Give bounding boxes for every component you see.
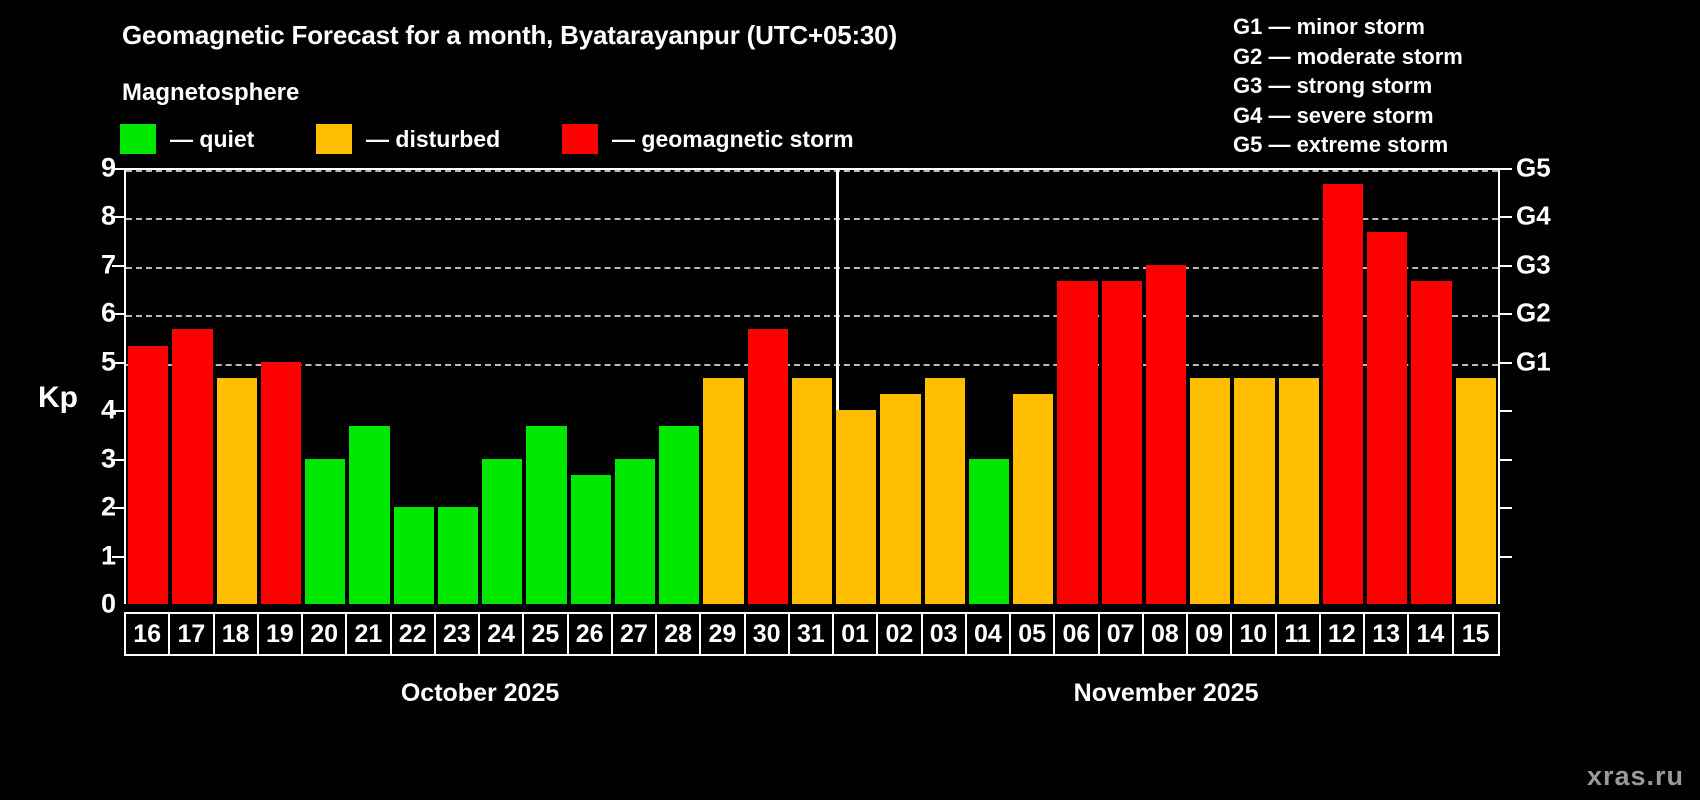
y-tick-mark-3 (112, 459, 124, 461)
day-label-08[interactable]: 08 (1144, 614, 1188, 654)
bar-day-24[interactable] (482, 459, 522, 604)
bar-cell[interactable] (701, 170, 745, 604)
g-tick-label-G1: G1 (1516, 346, 1551, 377)
bar-cell[interactable] (790, 170, 834, 604)
g-tick-mark-5 (1500, 362, 1512, 364)
y-axis-label: Kp (38, 381, 78, 415)
y-tick-label-5: 5 (76, 346, 116, 377)
y-tick-label-0: 0 (76, 589, 116, 620)
bar-day-06[interactable] (1057, 281, 1097, 604)
bar-day-21[interactable] (349, 426, 389, 604)
bar-day-14[interactable] (1411, 281, 1451, 604)
bar-day-05[interactable] (1013, 394, 1053, 604)
y-tick-mark-7 (112, 265, 124, 267)
bar-day-13[interactable] (1367, 232, 1407, 604)
y-tick-label-3: 3 (76, 443, 116, 474)
storm-scale-key: G1 — minor stormG2 — moderate stormG3 — … (1233, 12, 1463, 160)
bar-cell[interactable] (524, 170, 568, 604)
day-label-31[interactable]: 31 (790, 614, 834, 654)
plot-area (124, 168, 1500, 604)
watermark: xras.ru (1587, 761, 1684, 792)
bar-cell[interactable] (1277, 170, 1321, 604)
bar-cell[interactable] (1144, 170, 1188, 604)
bar-day-20[interactable] (305, 459, 345, 604)
legend-swatch-storm-icon (562, 124, 598, 154)
storm-scale-line-1: G1 — minor storm (1233, 12, 1463, 42)
day-label-18[interactable]: 18 (215, 614, 259, 654)
bar-cell[interactable] (878, 170, 922, 604)
bar-cell[interactable] (170, 170, 214, 604)
legend-item-disturbed: — disturbed (316, 124, 500, 154)
day-label-23[interactable]: 23 (436, 614, 480, 654)
g-tick-mark-9 (1500, 168, 1512, 170)
day-label-14[interactable]: 14 (1409, 614, 1453, 654)
bar-cell[interactable] (569, 170, 613, 604)
day-label-19[interactable]: 19 (259, 614, 303, 654)
bar-day-26[interactable] (571, 475, 611, 604)
geomagnetic-forecast-chart: Geomagnetic Forecast for a month, Byatar… (0, 0, 1700, 800)
storm-scale-line-5: G5 — extreme storm (1233, 130, 1463, 160)
y-tick-label-7: 7 (76, 249, 116, 280)
bar-day-27[interactable] (615, 459, 655, 604)
page-title: Geomagnetic Forecast for a month, Byatar… (122, 20, 897, 51)
bar-day-17[interactable] (172, 329, 212, 604)
legend-label-storm: — geomagnetic storm (612, 126, 854, 153)
legend-label-quiet: — quiet (170, 126, 254, 153)
g-tick-mark-1 (1500, 556, 1512, 558)
bar-day-07[interactable] (1102, 281, 1142, 604)
bar-cell[interactable] (1365, 170, 1409, 604)
bar-day-29[interactable] (703, 378, 743, 604)
day-label-10[interactable]: 10 (1232, 614, 1276, 654)
bar-cell[interactable] (834, 170, 878, 604)
bar-cell[interactable] (1454, 170, 1498, 604)
y-tick-mark-9 (112, 168, 124, 170)
g-tick-mark-6 (1500, 313, 1512, 315)
day-label-07[interactable]: 07 (1100, 614, 1144, 654)
day-label-28[interactable]: 28 (657, 614, 701, 654)
day-label-15[interactable]: 15 (1454, 614, 1498, 654)
day-label-25[interactable]: 25 (524, 614, 568, 654)
bar-day-16[interactable] (128, 346, 168, 604)
month-caption-1: October 2025 (401, 679, 559, 708)
bar-cell[interactable] (126, 170, 170, 604)
x-axis-day-labels: 1617181920212223242526272829303101020304… (124, 612, 1500, 656)
storm-scale-line-4: G4 — severe storm (1233, 101, 1463, 131)
day-label-05[interactable]: 05 (1011, 614, 1055, 654)
bar-cell[interactable] (657, 170, 701, 604)
storm-scale-line-2: G2 — moderate storm (1233, 42, 1463, 72)
g-tick-label-G3: G3 (1516, 249, 1551, 280)
bar-day-30[interactable] (748, 329, 788, 604)
day-label-16[interactable]: 16 (126, 614, 170, 654)
day-label-04[interactable]: 04 (967, 614, 1011, 654)
bar-day-23[interactable] (438, 507, 478, 604)
day-label-06[interactable]: 06 (1055, 614, 1099, 654)
day-label-30[interactable]: 30 (746, 614, 790, 654)
day-label-02[interactable]: 02 (878, 614, 922, 654)
bar-day-04[interactable] (969, 459, 1009, 604)
legend-swatch-disturbed-icon (316, 124, 352, 154)
bar-day-28[interactable] (659, 426, 699, 604)
y-tick-mark-2 (112, 507, 124, 509)
y-tick-mark-1 (112, 556, 124, 558)
day-label-20[interactable]: 20 (303, 614, 347, 654)
bar-day-01[interactable] (836, 410, 876, 604)
bar-day-03[interactable] (925, 378, 965, 604)
legend-item-quiet: — quiet (120, 124, 254, 154)
day-label-24[interactable]: 24 (480, 614, 524, 654)
bar-day-08[interactable] (1146, 265, 1186, 604)
legend-label-disturbed: — disturbed (366, 126, 500, 153)
g-tick-label-G2: G2 (1516, 298, 1551, 329)
day-label-13[interactable]: 13 (1365, 614, 1409, 654)
day-label-29[interactable]: 29 (701, 614, 745, 654)
y-tick-label-6: 6 (76, 298, 116, 329)
bar-day-12[interactable] (1323, 184, 1363, 604)
bar-day-15[interactable] (1456, 378, 1496, 604)
storm-scale-line-3: G3 — strong storm (1233, 71, 1463, 101)
bar-cell[interactable] (436, 170, 480, 604)
g-tick-mark-7 (1500, 265, 1512, 267)
day-label-22[interactable]: 22 (392, 614, 436, 654)
bar-day-31[interactable] (792, 378, 832, 604)
y-tick-label-1: 1 (76, 540, 116, 571)
bar-cell[interactable] (1321, 170, 1365, 604)
bar-series (126, 170, 1498, 604)
day-label-17[interactable]: 17 (170, 614, 214, 654)
g-tick-mark-4 (1500, 410, 1512, 412)
legend-swatch-quiet-icon (120, 124, 156, 154)
bar-day-22[interactable] (394, 507, 434, 604)
bar-day-19[interactable] (261, 362, 301, 604)
day-label-01[interactable]: 01 (834, 614, 878, 654)
bar-cell[interactable] (1188, 170, 1232, 604)
legend-item-storm: — geomagnetic storm (562, 124, 854, 154)
g-tick-mark-8 (1500, 216, 1512, 218)
y-tick-mark-6 (112, 313, 124, 315)
g-tick-mark-2 (1500, 507, 1512, 509)
y-tick-mark-5 (112, 362, 124, 364)
bar-cell[interactable] (1409, 170, 1453, 604)
y-tick-mark-4 (112, 410, 124, 412)
bar-cell[interactable] (215, 170, 259, 604)
bar-cell[interactable] (967, 170, 1011, 604)
bar-day-25[interactable] (526, 426, 566, 604)
bar-cell[interactable] (259, 170, 303, 604)
g-tick-label-G4: G4 (1516, 201, 1551, 232)
bar-cell[interactable] (746, 170, 790, 604)
bar-cell[interactable] (1055, 170, 1099, 604)
bar-day-11[interactable] (1279, 378, 1319, 604)
bar-cell[interactable] (480, 170, 524, 604)
bar-day-09[interactable] (1190, 378, 1230, 604)
y-tick-label-2: 2 (76, 492, 116, 523)
month-caption-2: November 2025 (1074, 679, 1259, 708)
bar-cell[interactable] (303, 170, 347, 604)
bar-cell[interactable] (923, 170, 967, 604)
g-tick-mark-3 (1500, 459, 1512, 461)
y-tick-label-9: 9 (76, 153, 116, 184)
day-label-11[interactable]: 11 (1277, 614, 1321, 654)
day-label-12[interactable]: 12 (1321, 614, 1365, 654)
y-tick-label-8: 8 (76, 201, 116, 232)
day-label-27[interactable]: 27 (613, 614, 657, 654)
bar-day-10[interactable] (1234, 378, 1274, 604)
bar-cell[interactable] (1100, 170, 1144, 604)
magnetosphere-label: Magnetosphere (122, 79, 299, 107)
bar-day-02[interactable] (880, 394, 920, 604)
day-label-09[interactable]: 09 (1188, 614, 1232, 654)
y-tick-label-4: 4 (76, 395, 116, 426)
bar-cell[interactable] (1011, 170, 1055, 604)
bar-cell[interactable] (347, 170, 391, 604)
y-tick-mark-8 (112, 216, 124, 218)
bar-cell[interactable] (613, 170, 657, 604)
bar-cell[interactable] (392, 170, 436, 604)
bar-cell[interactable] (1232, 170, 1276, 604)
bar-day-18[interactable] (217, 378, 257, 604)
g-tick-label-G5: G5 (1516, 153, 1551, 184)
day-label-03[interactable]: 03 (923, 614, 967, 654)
day-label-21[interactable]: 21 (347, 614, 391, 654)
day-label-26[interactable]: 26 (569, 614, 613, 654)
